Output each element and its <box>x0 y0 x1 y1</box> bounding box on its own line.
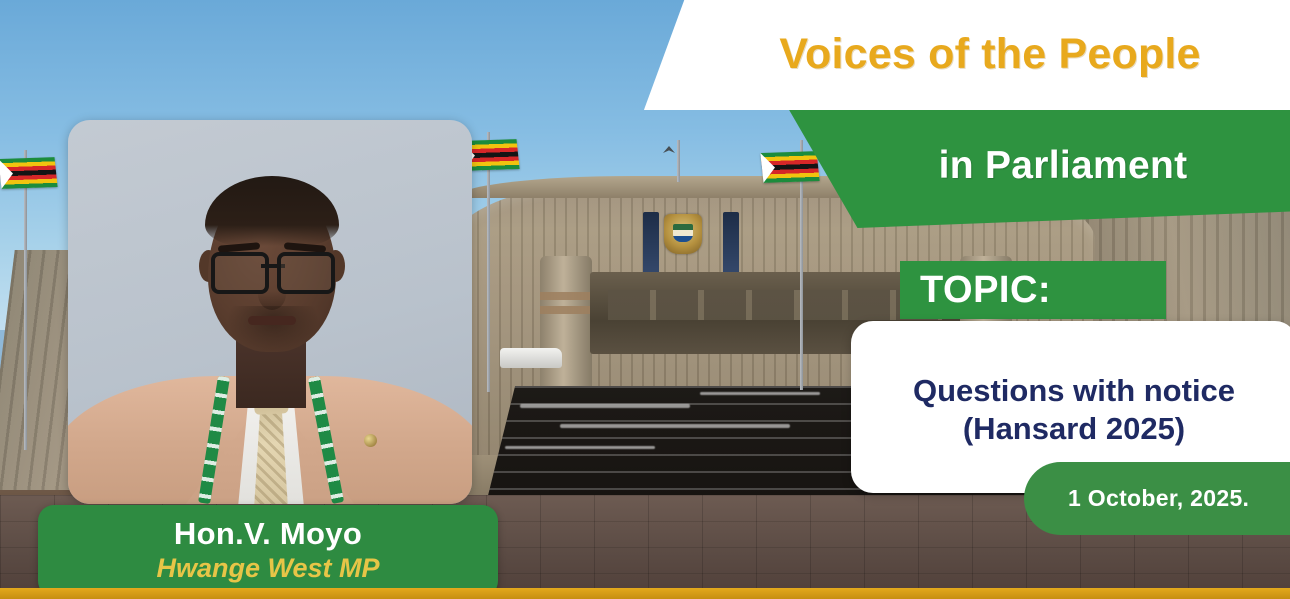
flagpole-roof <box>677 140 680 182</box>
voices-title-banner: Voices of the People <box>640 0 1290 110</box>
date-text: 1 October, 2025. <box>1024 485 1249 512</box>
zimbabwe-coat-of-arms-icon <box>664 214 702 254</box>
building-window-right <box>723 212 739 274</box>
poster-root: Voices of the People in Parliament TOPIC… <box>0 0 1290 599</box>
topic-label-text: TOPIC: <box>900 269 1051 312</box>
topic-content-line-1: Questions with notice <box>913 372 1235 410</box>
parliament-subtitle-banner: in Parliament <box>782 110 1290 228</box>
flagpole-center-left <box>487 132 490 392</box>
building-pillar-left <box>540 256 592 406</box>
speaker-portrait-photo <box>68 120 472 504</box>
speaker-name-card: Hon.V. Moyo Hwange West MP <box>38 505 498 597</box>
portrait-hair <box>205 176 339 246</box>
zimbabwe-flag-icon <box>0 157 58 189</box>
building-window-left <box>643 212 659 274</box>
pillar-band <box>540 292 592 300</box>
speaker-constituency: Hwange West MP <box>156 553 379 584</box>
stair-highlight <box>560 424 790 428</box>
topic-content-line-2: (Hansard 2025) <box>963 410 1185 448</box>
stair-highlight <box>700 392 820 395</box>
bottom-gold-strip <box>0 588 1290 599</box>
date-pill: 1 October, 2025. <box>1024 462 1290 535</box>
parked-van <box>500 348 562 368</box>
flagpole-left <box>24 150 27 450</box>
pillar-band <box>540 306 592 314</box>
speaker-name: Hon.V. Moyo <box>174 518 362 551</box>
stair-highlight <box>505 446 655 449</box>
stair-highlight <box>520 404 690 408</box>
voices-title-text: Voices of the People <box>731 30 1200 79</box>
portrait-beard <box>228 306 318 352</box>
portrait-lapel-pin <box>364 434 377 447</box>
zimbabwe-flag-icon <box>760 151 819 183</box>
topic-label-banner: TOPIC: <box>900 261 1166 319</box>
portrait-mouth <box>248 316 296 325</box>
parliament-subtitle-text: in Parliament <box>887 144 1188 194</box>
